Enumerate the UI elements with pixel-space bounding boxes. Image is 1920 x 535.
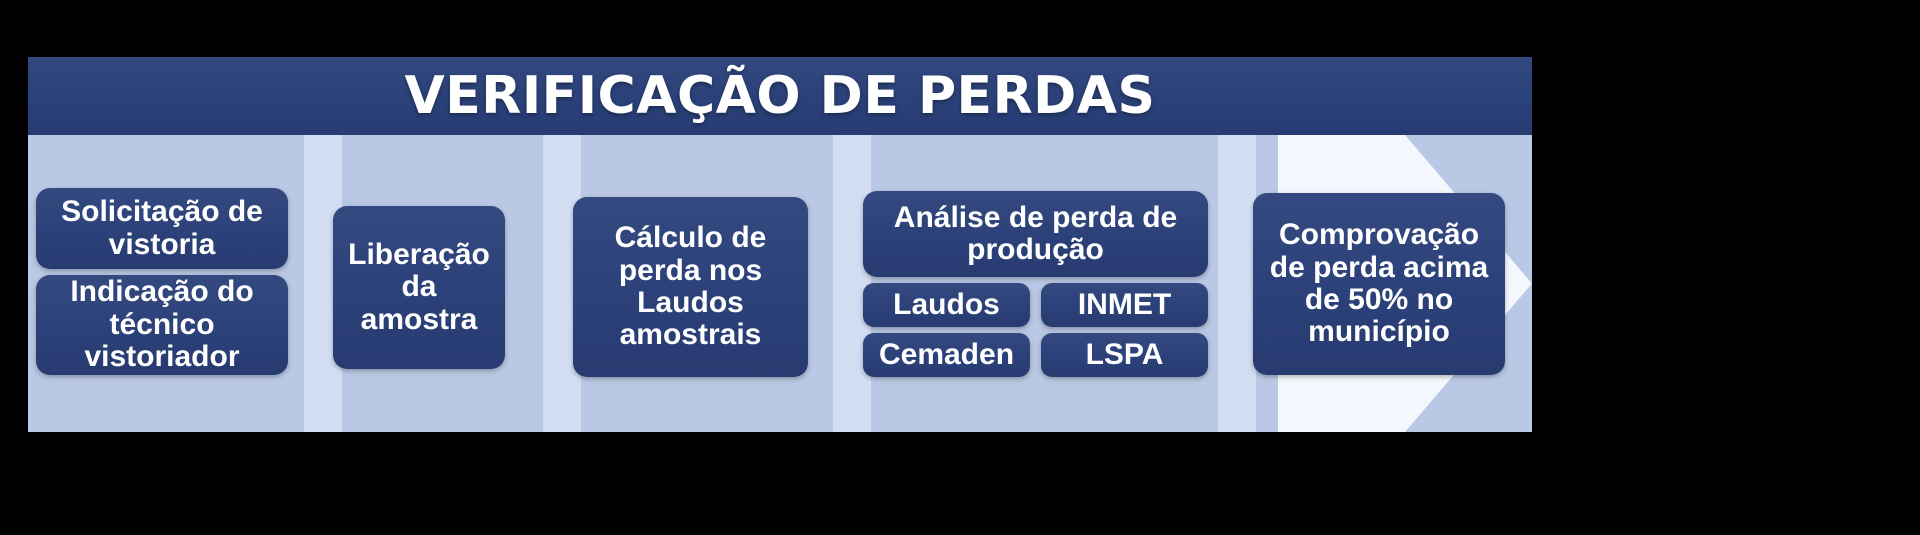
stage-box-analise-perda-producao[interactable]: Análise de perda de produção: [863, 191, 1208, 277]
stage-box-label: Análise de perda de produção: [871, 202, 1200, 267]
source-box-cemaden[interactable]: Cemaden: [863, 333, 1030, 377]
bottom-spacer: [28, 432, 1532, 535]
stage-box-label: Liberação da amostra: [341, 239, 497, 336]
stage-box-label: Comprovação de perda acima de 50% no mun…: [1261, 219, 1497, 349]
title-bar: VERIFICAÇÃO DE PERDAS: [28, 57, 1532, 135]
stage-separator-4: [1218, 135, 1256, 432]
source-box-lspa[interactable]: LSPA: [1041, 333, 1208, 377]
source-box-label: Cemaden: [879, 339, 1014, 371]
source-box-label: LSPA: [1086, 339, 1164, 371]
stage-separator-3: [833, 135, 871, 432]
source-box-label: INMET: [1078, 289, 1171, 321]
stage-box-comprovacao-perda[interactable]: Comprovação de perda acima de 50% no mun…: [1253, 193, 1505, 375]
stage-box-liberacao-amostra[interactable]: Liberação da amostra: [333, 206, 505, 369]
source-box-label: Laudos: [893, 289, 1000, 321]
stage-box-indicacao-tecnico[interactable]: Indicação do técnico vistoriador: [36, 275, 288, 375]
stage-box-label: Cálculo de perda nos Laudos amostrais: [581, 222, 800, 352]
stage-box-solicitacao-vistoria[interactable]: Solicitação de vistoria: [36, 188, 288, 269]
stage-box-calculo-perda[interactable]: Cálculo de perda nos Laudos amostrais: [573, 197, 808, 377]
stage-box-label: Indicação do técnico vistoriador: [44, 276, 280, 373]
stage-box-label: Solicitação de vistoria: [44, 196, 280, 261]
page-title: VERIFICAÇÃO DE PERDAS: [405, 70, 1156, 122]
source-box-inmet[interactable]: INMET: [1041, 283, 1208, 327]
source-box-laudos[interactable]: Laudos: [863, 283, 1030, 327]
infographic-canvas: VERIFICAÇÃO DE PERDAS Solicitação de vis…: [0, 0, 1920, 535]
process-band: Solicitação de vistoria Indicação do téc…: [28, 135, 1532, 432]
